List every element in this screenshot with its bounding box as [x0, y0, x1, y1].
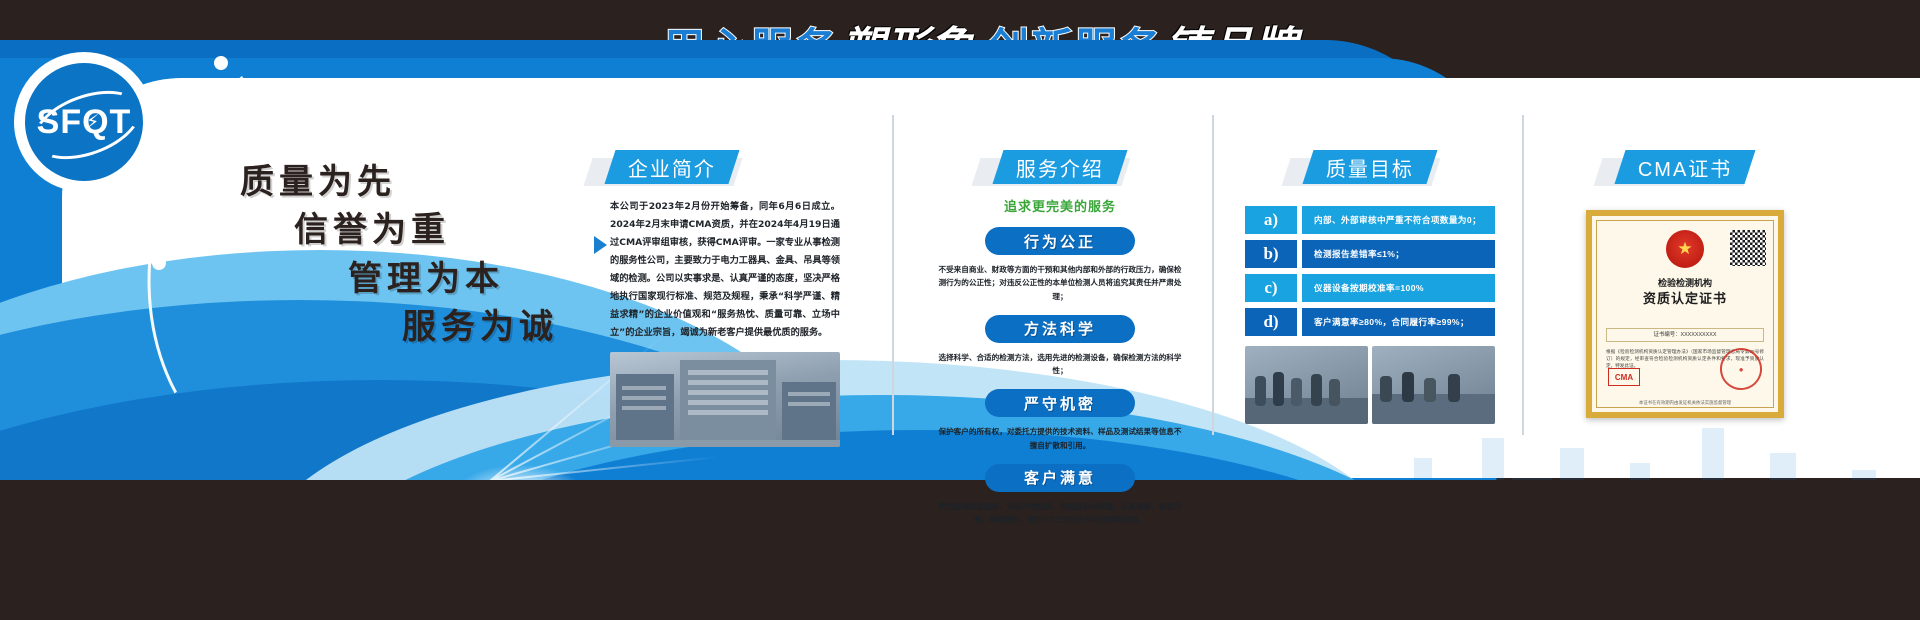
tab-body: 服务介绍	[992, 150, 1127, 184]
tab-company[interactable]: 企业简介	[610, 150, 734, 184]
service-pill-3-label: 严守机密	[1024, 393, 1096, 414]
cma-certificate: ★ 检验检测机构 资质认定证书 证书编号：XXXXXXXXXX 根据《检验检测机…	[1586, 210, 1784, 418]
tab-cma[interactable]: CMA证书	[1620, 150, 1750, 184]
goal-row-a: a) 内部、外部审核中严重不符合项数量为0；	[1245, 206, 1495, 234]
wall-poster: 用心服务 塑形象 创新服务 铸品牌	[0, 0, 1920, 620]
tab-cma-label: CMA证书	[1638, 153, 1732, 182]
service-pill-2-label: 方法科学	[1024, 318, 1096, 339]
tab-service[interactable]: 服务介绍	[998, 150, 1122, 184]
service-desc-3: 保护客户的所有权，对委托方提供的技术资料、样品及测试结果等信息不擅自扩散和引用。	[935, 425, 1185, 452]
certificate-line2: 资质认定证书	[1592, 290, 1778, 308]
national-emblem-icon: ★	[1666, 230, 1704, 268]
tab-body: CMA证书	[1614, 150, 1756, 184]
tab-body: 企业简介	[604, 150, 739, 184]
company-building-photo	[610, 352, 840, 447]
service-desc-2: 选择科学、合适的检测方法，选用先进的检测设备，确保检测方法的科学性；	[935, 351, 1185, 378]
goal-key-a: a)	[1245, 206, 1297, 234]
panel-quality: 质量目标 a) 内部、外部审核中严重不符合项数量为0； b) 检测报告差错率≤1…	[1245, 150, 1495, 424]
divider-3	[1522, 115, 1524, 435]
quality-photos	[1245, 346, 1495, 424]
service-subtitle: 追求更完美的服务	[935, 196, 1185, 215]
slogan-line-2: 信誉为重	[294, 206, 570, 254]
service-pill-4[interactable]: 客户满意	[985, 464, 1135, 492]
logo-circle: SFQT ⚡	[25, 63, 143, 181]
company-body-text: 本公司于2023年2月份开始筹备，同年6月6日成立。2024年2月末申请CMA资…	[610, 198, 840, 342]
certificate-line1: 检验检测机构	[1592, 276, 1778, 289]
service-pill-2[interactable]: 方法科学	[985, 315, 1135, 343]
slogan-line-3: 管理为本	[348, 255, 570, 303]
logo: SFQT ⚡	[14, 52, 154, 192]
service-pill-1-label: 行为公正	[1024, 231, 1096, 252]
qr-code-icon	[1730, 230, 1766, 266]
panel-company: 企业简介 本公司于2023年2月份开始筹备，同年6月6日成立。2024年2月末申…	[610, 150, 840, 447]
goal-row-b: b) 检测报告差错率≤1%；	[1245, 240, 1495, 268]
goal-row-c: c) 仪器设备按期校准率=100%	[1245, 274, 1495, 302]
goal-key-d: d)	[1245, 308, 1297, 336]
service-desc-1: 不受来自商业、财政等方面的干预和其他内部和外部的行政压力，确保检测行为的公正性；…	[935, 263, 1185, 303]
team-photo-right	[1372, 346, 1495, 424]
tab-quality[interactable]: 质量目标	[1308, 150, 1432, 184]
service-pill-4-label: 客户满意	[1024, 467, 1096, 488]
slogan-block: 质量为先 信誉为重 管理为本 服务为诚	[240, 158, 570, 351]
cma-mark-icon: CMA	[1608, 368, 1640, 386]
dot-decor-2	[152, 256, 166, 270]
divider-2	[1212, 115, 1214, 435]
team-photo-left	[1245, 346, 1368, 424]
goal-text-b: 检测报告差错率≤1%；	[1302, 240, 1495, 268]
dot-decor-1	[214, 56, 228, 70]
lightning-bolt-icon: ⚡	[86, 113, 99, 132]
arrow-bullet-icon	[594, 236, 607, 254]
slogan-line-1: 质量为先	[240, 158, 570, 206]
divider-1	[892, 115, 894, 435]
goal-key-c: c)	[1245, 274, 1297, 302]
goal-text-c: 仪器设备按期校准率=100%	[1302, 274, 1495, 302]
slogan-line-4: 服务为诚	[402, 303, 570, 351]
tab-quality-label: 质量目标	[1326, 153, 1414, 182]
tab-service-label: 服务介绍	[1016, 153, 1104, 182]
certificate-footer: 本证书在有效期内由发证机关依法实施监督管理	[1592, 400, 1778, 406]
goal-row-d: d) 客户满意率≥80%，合同履行率≥99%；	[1245, 308, 1495, 336]
goal-text-a: 内部、外部审核中严重不符合项数量为0；	[1302, 206, 1495, 234]
goal-key-b: b)	[1245, 240, 1297, 268]
certificate-line3: 证书编号：XXXXXXXXXX	[1606, 328, 1764, 342]
panel-service: 服务介绍 追求更完美的服务 行为公正 不受来自商业、财政等方面的干预和其他内部和…	[935, 150, 1185, 527]
tab-body: 质量目标	[1302, 150, 1437, 184]
service-pill-1[interactable]: 行为公正	[985, 227, 1135, 255]
panel-cma: CMA证书 ★ 检验检测机构 资质认定证书 证书编号：XXXXXXXXXX 根据…	[1560, 150, 1810, 418]
tab-company-label: 企业简介	[628, 153, 716, 182]
service-desc-4: 热忱提供优质服务，对客户的投诉、抱怨要及时受理、认真调查、客观分析、明确责任，要…	[935, 500, 1185, 527]
service-pill-3[interactable]: 严守机密	[985, 389, 1135, 417]
goal-text-d: 客户满意率≥80%，合同履行率≥99%；	[1302, 308, 1495, 336]
